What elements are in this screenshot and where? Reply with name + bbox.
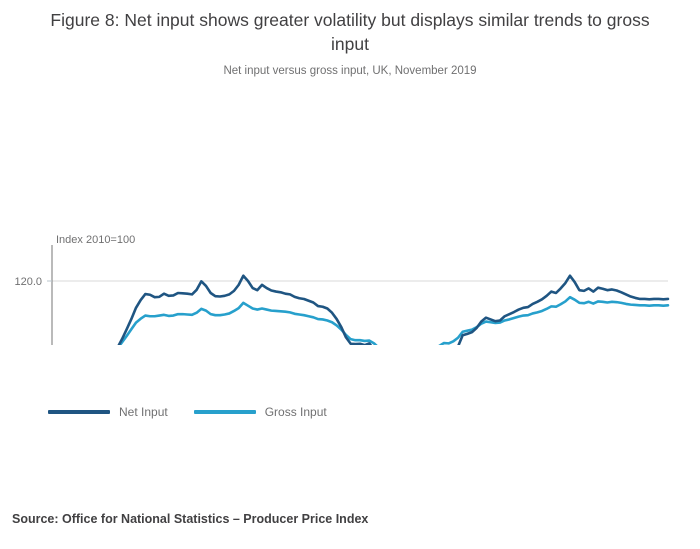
series-line-gross-input: [52, 297, 668, 345]
figure-subtitle: Net input versus gross input, UK, Novemb…: [0, 63, 700, 79]
axis-unit-label: Index 2010=100: [56, 234, 135, 246]
chart-plot-area: 120.0100.080.00.0Index 2010=1002009 Nov2…: [0, 95, 700, 345]
source-note: Source: Office for National Statistics –…: [12, 512, 368, 526]
series-line-net-input: [52, 276, 668, 345]
chart-legend: Net Input Gross Input: [48, 405, 327, 419]
legend-item-net-input[interactable]: Net Input: [48, 405, 168, 419]
figure-title: Figure 8: Net input shows greater volati…: [0, 0, 700, 56]
legend-swatch-gross-input: [194, 410, 256, 414]
legend-item-gross-input[interactable]: Gross Input: [194, 405, 327, 419]
legend-label-net-input: Net Input: [119, 405, 168, 419]
legend-swatch-net-input: [48, 410, 110, 414]
figure-container: Figure 8: Net input shows greater volati…: [0, 0, 700, 549]
line-chart: 120.0100.080.00.0Index 2010=1002009 Nov2…: [0, 95, 700, 345]
y-tick-label-0: 120.0: [14, 276, 42, 288]
legend-label-gross-input: Gross Input: [265, 405, 327, 419]
